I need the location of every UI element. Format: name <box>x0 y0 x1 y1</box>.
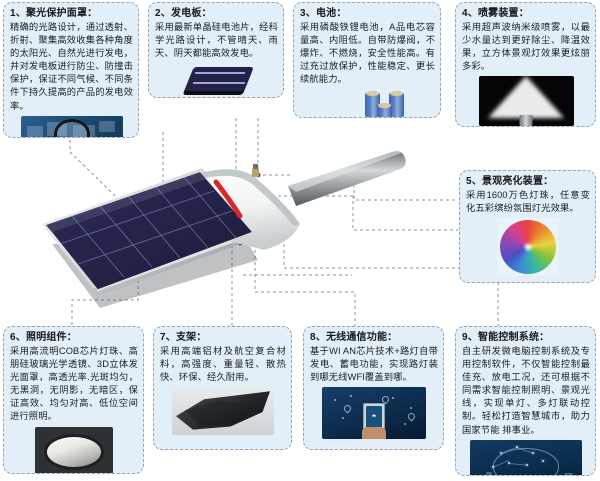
panel-2-title: 2、发电板： <box>155 7 278 20</box>
info-panel-1[interactable]: 1、聚光保护面罩： 精确的光路设计，通过透射、折射、聚集高效收集各种角度的太阳光… <box>3 2 139 138</box>
solar-street-light-illustration <box>0 140 470 320</box>
battery-cells-icon <box>349 89 433 118</box>
infographic-canvas: 1、聚光保护面罩： 精确的光路设计，通过透射、折射、聚集高效收集各种角度的太阳光… <box>0 0 600 481</box>
cob-lamp-icon <box>35 427 113 474</box>
info-panel-6[interactable]: 6、照明组件： 采用高流明COB芯片灯珠、高朋硅玻璃光学透镜、3D立体发光面罩，… <box>3 326 144 474</box>
wifi-glyph: ◓ <box>371 412 376 421</box>
panel-2-body: 采用最新单晶硅电池片，经科学光路设计，不管晴天、雨天、阴天都能高效发电。 <box>155 21 278 60</box>
panel-4-body: 采用超声波纳米级喷雾，以最少水量达到更好除尘、降温效果，立方体景观灯效果更炫丽多… <box>462 21 590 73</box>
carbon-bracket-icon <box>172 387 274 435</box>
info-panel-7[interactable]: 7、支架： 采用高端铝材及航空复合材料，高强度、重量轻、散热快、环保、经久耐用。 <box>153 326 292 450</box>
panel-3-title: 3、电池： <box>300 7 435 20</box>
magnifier-icon <box>21 116 123 138</box>
info-panel-3[interactable]: 3、电池： 采用磷酸铁锂电池，A品电芯容量高、内阻低。自带防爆阀，不爆炸、不燃烧… <box>293 2 441 118</box>
panel-6-body: 采用高流明COB芯片灯珠、高朋硅玻璃光学透镜、3D立体发光面罩，高透光率.光斑均… <box>10 345 138 424</box>
info-panel-2[interactable]: 2、发电板： 采用最新单晶硅电池片，经科学光路设计，不管晴天、雨天、阴天都能高效… <box>148 2 284 98</box>
panel-1-body: 精确的光路设计，通过透射、折射、聚集高效收集各种角度的太阳光、自然光进行发电，并… <box>10 21 133 113</box>
info-panel-5[interactable]: 5、景观亮化装置： 采用1600万色灯珠，任意变化五彩缤纷氛围灯光效果。 <box>459 170 596 283</box>
panel-1-title: 1、聚光保护面罩： <box>10 7 133 20</box>
smart-city-icon <box>470 440 582 476</box>
panel-5-title: 5、景观亮化装置： <box>466 175 590 188</box>
panel-6-title: 6、照明组件： <box>10 331 138 344</box>
info-panel-8[interactable]: 8、无线通信功能： 基于WI AN芯片技术+路灯自带发电、蓄电功能，实现路灯装到… <box>303 326 444 450</box>
panel-8-body: 基于WI AN芯片技术+路灯自带发电、蓄电功能，实现路灯装到哪无线WFI覆盖到哪… <box>310 345 438 384</box>
mist-nozzle-icon <box>479 76 574 126</box>
panel-3-body: 采用磷酸铁锂电池，A品电芯容量高、内阻低。自带防爆阀，不爆炸、不燃烧，安全性能高… <box>300 21 435 86</box>
info-panel-4[interactable]: 4、喷雾装置： 采用超声波纳米级喷雾，以最少水量达到更好除尘、降温效果，立方体景… <box>455 2 596 127</box>
panel-7-body: 采用高端铝材及航空复合材料，高强度、重量轻、散热快、环保、经久耐用。 <box>160 345 286 384</box>
panel-9-body: 自主研发微电脑控制系统及专用控制软件，不仅智能控制最佳充、放电工况，还可根据不同… <box>462 345 590 437</box>
panel-8-title: 8、无线通信功能： <box>310 331 438 344</box>
info-panel-9[interactable]: 9、智能控制系统： 自主研发微电脑控制系统及专用控制软件，不仅智能控制最佳充、放… <box>455 326 596 476</box>
panel-4-title: 4、喷雾装置： <box>462 7 590 20</box>
color-wheel-icon <box>497 218 559 276</box>
wifi-world-icon: ◓ <box>322 387 426 439</box>
panel-9-title: 9、智能控制系统： <box>462 331 590 344</box>
panel-7-title: 7、支架： <box>160 331 286 344</box>
panel-5-body: 采用1600万色灯珠，任意变化五彩缤纷氛围灯光效果。 <box>466 189 590 215</box>
solar-cell-icon <box>155 63 279 98</box>
